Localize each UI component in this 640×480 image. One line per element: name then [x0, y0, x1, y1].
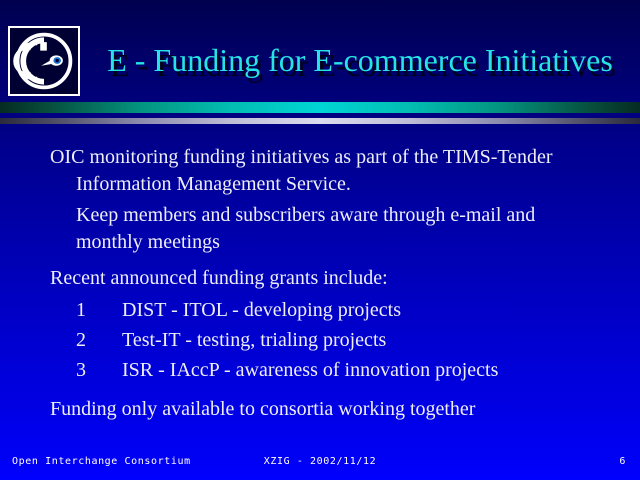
- body-paragraph-last: Funding only available to consortia work…: [50, 396, 628, 423]
- list-item: 3ISR - IAccP - awareness of innovation p…: [76, 355, 616, 385]
- list-item-number: 1: [76, 295, 122, 325]
- list-item-label: DIST - ITOL - developing projects: [122, 299, 401, 321]
- slide-body: OIC monitoring funding initiatives as pa…: [0, 134, 640, 440]
- divider-bar-teal: [0, 102, 640, 113]
- body-paragraph-1: OIC monitoring funding initiatives as pa…: [50, 144, 628, 198]
- numbered-list: 1DIST - ITOL - developing projects 2Test…: [76, 295, 616, 385]
- list-item-label: Test-IT - testing, trialing projects: [122, 329, 386, 351]
- presentation-slide: E - Funding for E-commerce Initiatives E…: [0, 0, 640, 480]
- footer-page-number: 6: [619, 456, 626, 467]
- body-paragraph-2: Keep members and subscribers aware throu…: [76, 202, 600, 256]
- list-item-number: 2: [76, 325, 122, 355]
- list-item-number: 3: [76, 355, 122, 385]
- footer-event-date: XZIG - 2002/11/12: [0, 456, 640, 467]
- slide-footer: Open Interchange Consortium XZIG - 2002/…: [0, 444, 640, 480]
- oic-logo: [8, 26, 80, 96]
- slide-header: E - Funding for E-commerce Initiatives E…: [0, 0, 640, 100]
- divider-bar-light: [0, 118, 640, 124]
- list-item: 2Test-IT - testing, trialing projects: [76, 325, 616, 355]
- body-paragraph-3: Recent announced funding grants include:: [50, 265, 628, 292]
- slide-title-text: E - Funding for E-commerce Initiatives: [86, 36, 634, 84]
- list-item-label: ISR - IAccP - awareness of innovation pr…: [122, 359, 498, 381]
- body-paragraph-1-text: OIC monitoring funding initiatives as pa…: [50, 146, 553, 195]
- oic-circular-logo-icon: [10, 28, 78, 94]
- body-paragraph-last-text: Funding only available to consortia work…: [50, 398, 475, 420]
- body-paragraph-3-text: Recent announced funding grants include:: [50, 267, 388, 289]
- list-item: 1DIST - ITOL - developing projects: [76, 295, 616, 325]
- slide-title: E - Funding for E-commerce Initiatives E…: [86, 36, 634, 92]
